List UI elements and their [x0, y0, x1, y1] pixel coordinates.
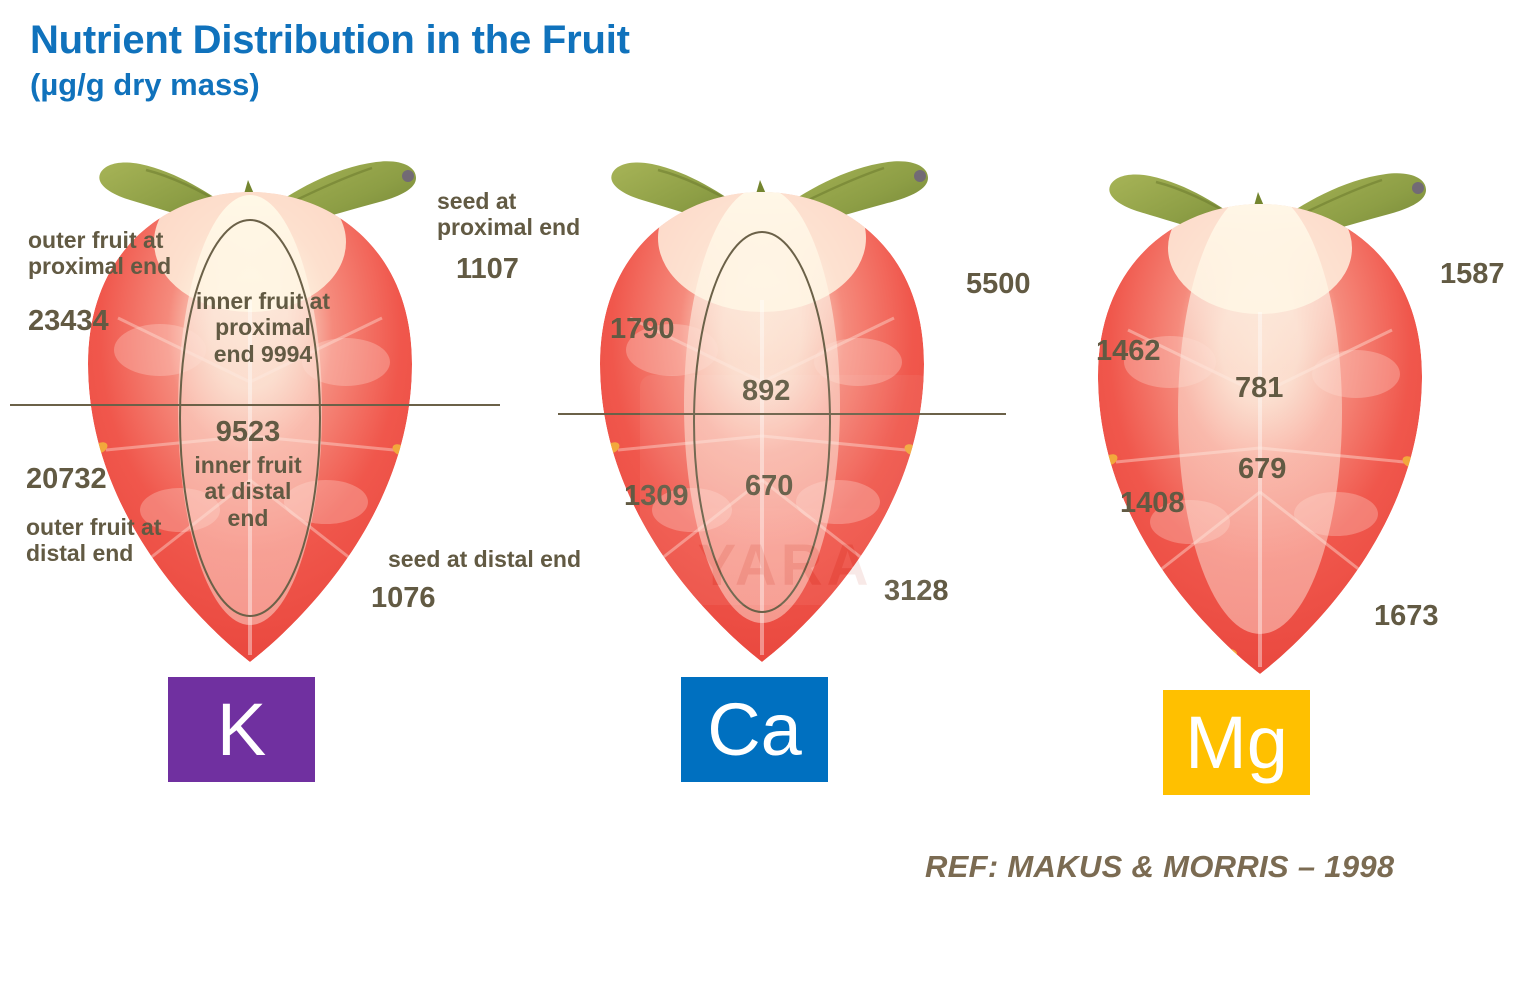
- label-outer-distal-k: outer fruit at distal end: [26, 514, 246, 567]
- value-seed-distal-ca: 3128: [884, 575, 949, 608]
- value-outer-distal-k: 20732: [26, 463, 107, 496]
- value-outer-proximal-ca: 1790: [610, 313, 675, 346]
- proximal-distal-divider-k: [10, 404, 500, 406]
- label-outer-proximal-k: outer fruit at proximal end: [28, 227, 248, 280]
- slide-canvas: Nutrient Distribution in the Fruit (µg/g…: [0, 0, 1528, 993]
- value-outer-proximal-mg: 1462: [1096, 335, 1161, 368]
- nutrient-panel-mg: 1462 781 1587 679 1408 1673: [1010, 150, 1510, 950]
- element-badge-mg[interactable]: Mg: [1163, 690, 1310, 795]
- value-inner-distal-k: 9523: [183, 416, 313, 449]
- value-seed-distal-mg: 1673: [1374, 600, 1439, 633]
- title-units: (µg/g dry mass): [30, 67, 930, 103]
- value-outer-distal-ca: 1309: [624, 480, 689, 513]
- value-inner-proximal-mg: 781: [1235, 372, 1283, 405]
- page-title: Nutrient Distribution in the Fruit (µg/g…: [30, 18, 930, 102]
- label-inner-proximal-k: inner fruit at proximal end 9994: [188, 288, 338, 367]
- value-seed-proximal-mg: 1587: [1440, 258, 1505, 291]
- element-badge-k[interactable]: K: [168, 677, 315, 782]
- element-badge-ca[interactable]: Ca: [681, 677, 828, 782]
- value-outer-proximal-k: 23434: [28, 305, 109, 338]
- nutrient-panel-k: outer fruit at proximal end 23434 inner …: [0, 150, 500, 950]
- proximal-distal-divider-ca: [558, 413, 1006, 415]
- value-inner-distal-mg: 679: [1238, 453, 1286, 486]
- value-inner-proximal-ca: 892: [742, 375, 790, 408]
- value-outer-distal-mg: 1408: [1120, 487, 1185, 520]
- value-seed-distal-k: 1076: [371, 582, 436, 615]
- nutrient-panel-ca: 1790 892 5500 670 1309 3128: [512, 150, 1012, 950]
- title-primary: Nutrient Distribution in the Fruit: [30, 18, 930, 63]
- value-seed-proximal-k: 1107: [456, 253, 519, 286]
- value-inner-distal-ca: 670: [745, 470, 793, 503]
- source-reference: REF: MAKUS & MORRIS – 1998: [925, 849, 1394, 885]
